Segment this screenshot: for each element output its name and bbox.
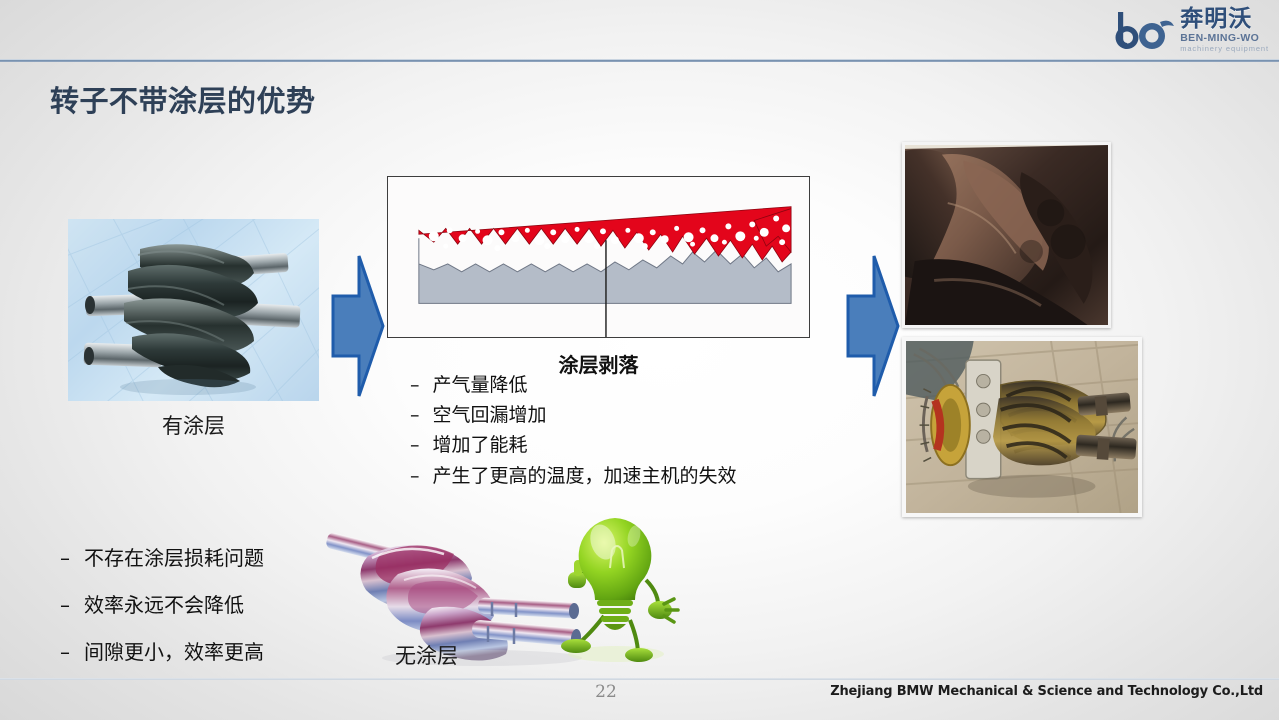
bullet-marker: –: [60, 639, 70, 665]
logo-english-name: BEN-MING-WO: [1180, 33, 1259, 44]
list-item-label: 产生了更高的温度，加速主机的失效: [433, 463, 737, 489]
list-item-label: 不存在涂层损耗问题: [84, 545, 264, 571]
list-item-label: 空气回漏增加: [433, 402, 547, 428]
bullet-marker: –: [410, 463, 420, 489]
logo-tagline: machinery equipment: [1180, 45, 1269, 53]
screw-rotor-pair-graphic: [68, 219, 319, 401]
page-number: 22: [560, 682, 652, 702]
bo-monogram-icon: [1114, 10, 1176, 50]
bullet-marker: –: [60, 545, 70, 571]
footer-divider: [0, 678, 1279, 680]
list-item: – 增加了能耗: [410, 432, 830, 458]
disassembled-rotor-assembly-photo: [902, 337, 1142, 517]
slide-canvas: 奔明沃 BEN-MING-WO machinery equipment 转子不带…: [0, 0, 1279, 720]
worn-rotor-photo: [902, 142, 1111, 328]
list-item-label: 间隙更小，效率更高: [84, 639, 264, 665]
page-title: 转子不带涂层的优势: [50, 78, 316, 120]
company-logo: 奔明沃 BEN-MING-WO machinery equipment: [1104, 4, 1269, 56]
flow-arrow-right-2: [840, 252, 902, 400]
bullet-marker: –: [410, 402, 420, 428]
list-item-label: 增加了能耗: [433, 432, 528, 458]
list-item-label: 产气量降低: [433, 372, 528, 398]
list-item: – 产气量降低: [410, 372, 830, 398]
list-item: – 产生了更高的温度，加速主机的失效: [410, 463, 830, 489]
coated-rotor-image: [68, 219, 319, 401]
worn-rotor-graphic: [905, 145, 1108, 325]
bullet-marker: –: [60, 592, 70, 618]
bullet-marker: –: [410, 432, 420, 458]
list-item: – 空气回漏增加: [410, 402, 830, 428]
logo-text-block: 奔明沃 BEN-MING-WO machinery equipment: [1180, 8, 1269, 53]
logo-chinese-name: 奔明沃: [1180, 8, 1252, 31]
bullet-marker: –: [410, 372, 420, 398]
chrome-rotor-and-bulb-graphic: [312, 512, 687, 672]
coating-effects-list: – 产气量降低 – 空气回漏增加 – 增加了能耗 – 产生了更高的温度，加速主机…: [410, 372, 830, 493]
footer-company-name: Zhejiang BMW Mechanical & Science and Te…: [830, 684, 1263, 699]
uncoated-rotor-caption: 无涂层: [395, 640, 458, 670]
cross-section-graphic: [388, 177, 809, 337]
rotor-assembly-graphic: [906, 341, 1138, 513]
coating-delamination-diagram: [387, 176, 810, 338]
list-item-label: 效率永远不会降低: [84, 592, 244, 618]
coated-rotor-caption: 有涂层: [68, 410, 319, 440]
uncoated-rotor-image: [312, 512, 687, 672]
header-divider: [0, 59, 1279, 62]
flow-arrow-right-1: [325, 252, 387, 400]
